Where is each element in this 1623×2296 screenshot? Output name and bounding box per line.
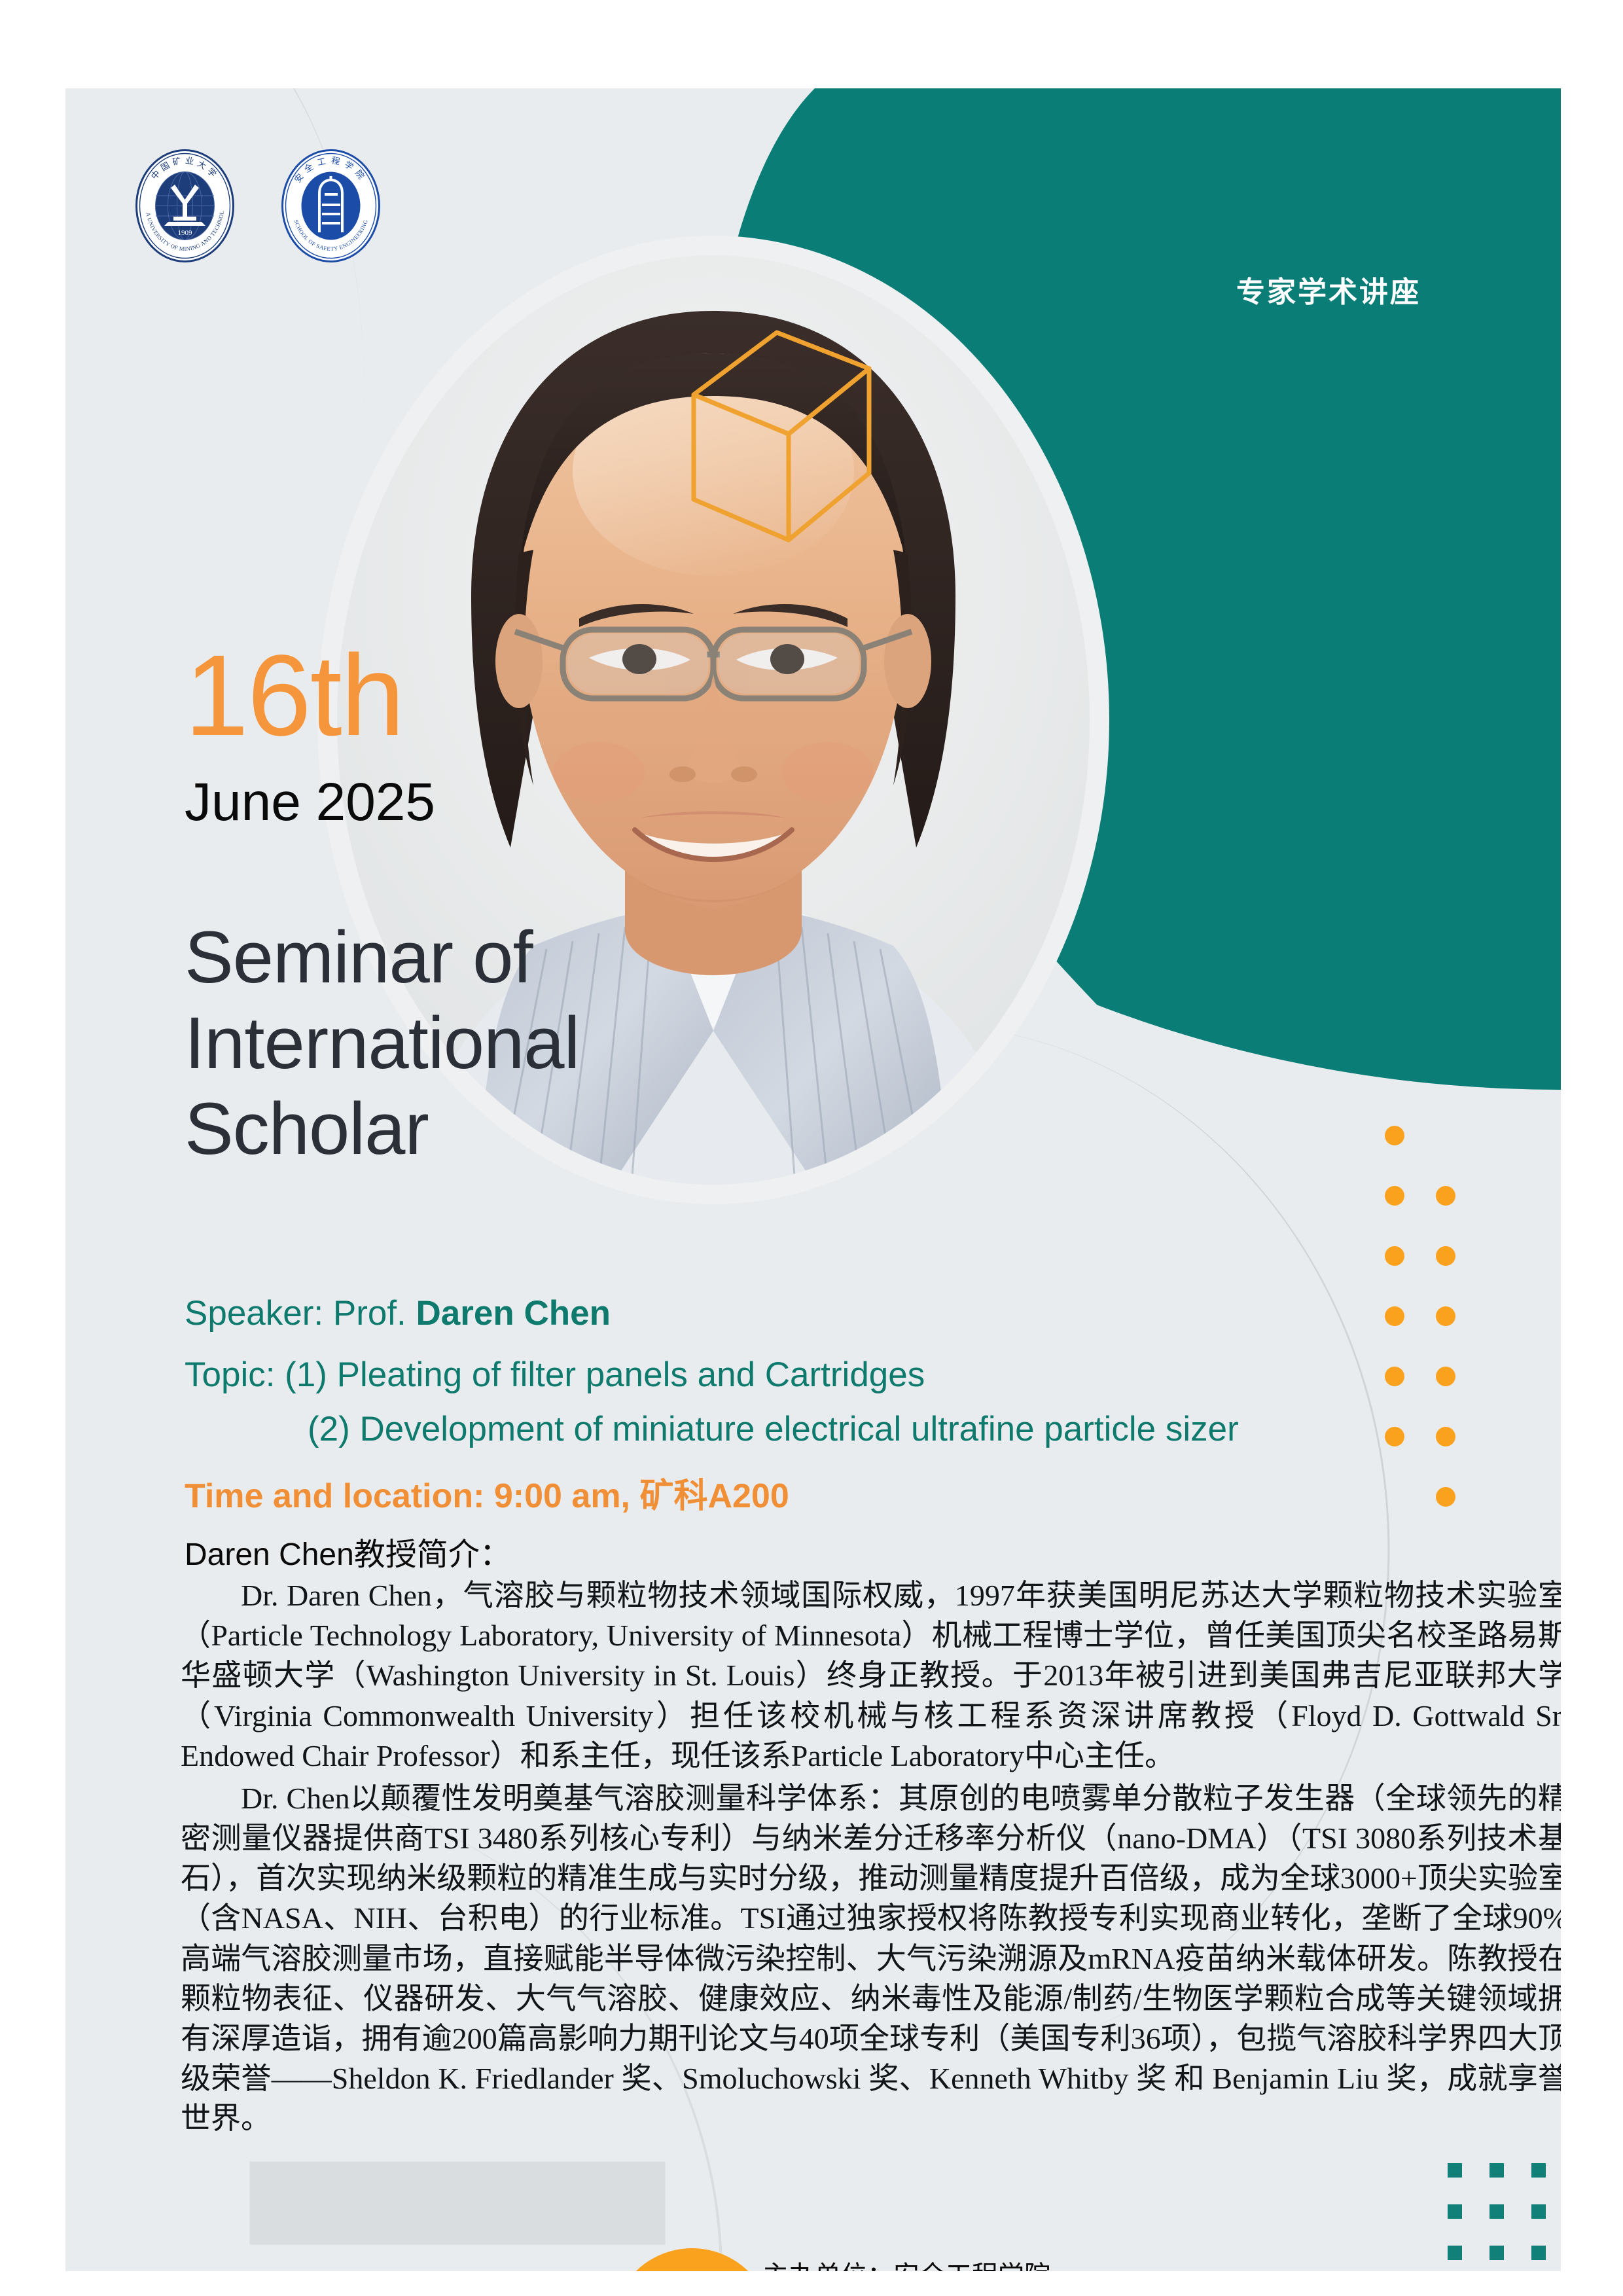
- school-of-safety-engineering-logo: SCHOOL OF SAFETY ENGINEERING 安全工程学院: [280, 149, 382, 263]
- teal-square-grid: [1448, 2163, 1561, 2271]
- svg-text:1909: 1909: [178, 229, 193, 237]
- speaker-name: Daren Chen: [416, 1294, 611, 1333]
- poster-title-line-2: International: [185, 1000, 579, 1086]
- logo-group: 1909 CHINA UNIVERSITY OF MINING AND TECH…: [134, 149, 382, 263]
- organizers-block: 主办单位：安全工程学院 职业健康与安全防护研究所 江苏省粉尘治理与职业防护工程研…: [762, 2258, 1310, 2271]
- poster-title-line-1: Seminar of: [185, 914, 579, 1000]
- event-month-year: June 2025: [185, 776, 435, 829]
- bio-paragraph-2: Dr. Chen以颠覆性发明奠基气溶胶测量科学体系：其原创的电喷雾单分散粒子发生…: [181, 1778, 1561, 2139]
- china-university-of-mining-and-technology-logo: 1909 CHINA UNIVERSITY OF MINING AND TECH…: [134, 149, 236, 263]
- bio-body: Dr. Daren Chen，气溶胶与颗粒物技术领域国际权威，1997年获美国明…: [181, 1575, 1561, 2138]
- bio-heading: Daren Chen教授简介：: [185, 1528, 511, 1574]
- speaker-prefix: Speaker: Prof.: [185, 1294, 416, 1333]
- orange-dot-grid: [1385, 1126, 1455, 1547]
- topic-line-2: (2) Development of miniature electrical …: [308, 1409, 1239, 1449]
- speaker-line: Speaker: Prof. Daren Chen: [185, 1296, 611, 1331]
- event-day: 16th: [185, 638, 404, 753]
- poster-canvas: 1909 CHINA UNIVERSITY OF MINING AND TECH…: [65, 88, 1561, 2271]
- time-and-location: Time and location: 9:00 am, 矿科A200: [185, 1468, 789, 1517]
- organizer-line-1: 主办单位：安全工程学院: [762, 2258, 1310, 2271]
- orange-wireframe-cube-icon: [658, 324, 893, 560]
- banner-label: 专家学术讲座: [1099, 268, 1558, 310]
- topic-line-1: Topic: (1) Pleating of filter panels and…: [185, 1355, 925, 1395]
- poster-title-line-3: Scholar: [185, 1086, 579, 1172]
- poster-title: Seminar of International Scholar: [185, 914, 579, 1172]
- bio-paragraph-1: Dr. Daren Chen，气溶胶与颗粒物技术领域国际权威，1997年获美国明…: [181, 1575, 1561, 1776]
